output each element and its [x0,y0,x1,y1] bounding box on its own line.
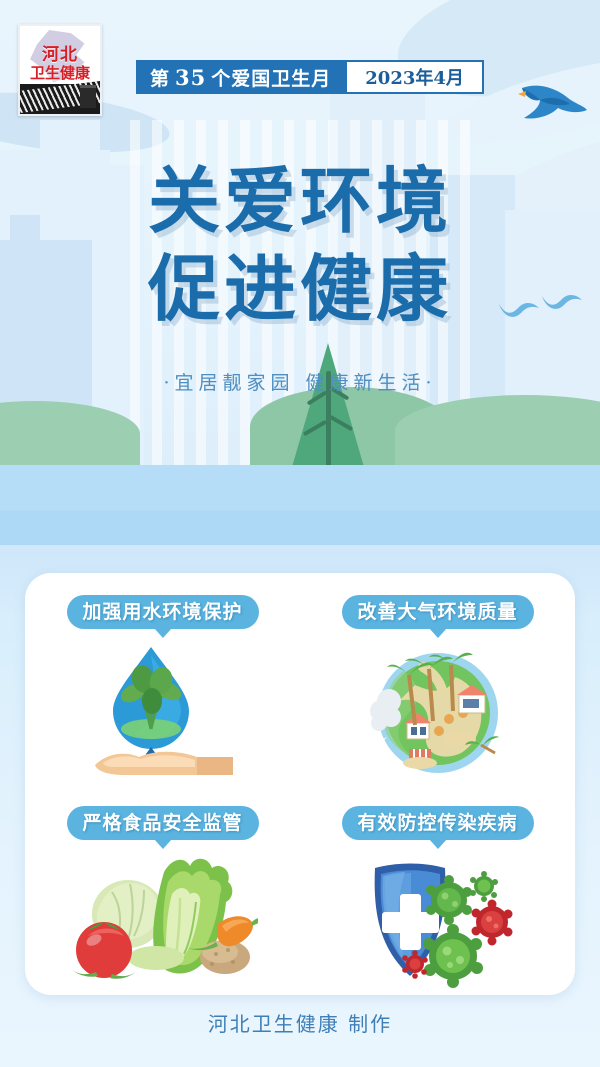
topic-item-air[interactable]: 改善大气环境质量 [300,573,575,784]
logo-line2: 卫生健康 [20,62,100,83]
topic-label: 有效防控传染疾病 [341,806,533,840]
flying-bird-icon [516,80,588,132]
water-band-deep [0,511,600,545]
topic-label: 改善大气环境质量 [341,595,533,629]
campaign-banner: 第 35 个爱国卫生月 2023年4月 [136,60,484,94]
subtitle: ·宜居靓家园 健康新生活· [0,368,600,395]
vegetables-icon [25,852,300,992]
topic-item-water[interactable]: 加强用水环境保护 [25,573,300,784]
banner-number: 35 [170,65,211,90]
banner-suffix: 个爱国卫生月 [211,64,331,91]
banner-title-segment: 第 35 个爱国卫生月 [136,60,345,94]
topic-label: 严格食品安全监管 [66,806,258,840]
topic-item-food[interactable]: 严格食品安全监管 [25,784,300,995]
footer-credit: 河北卫生健康 制作 [0,1008,600,1037]
watchtower-shape [80,85,96,108]
green-globe-icon [300,641,575,781]
headline-line2: 促进健康 [0,230,600,335]
hebei-health-logo[interactable]: 河北 卫生健康 [18,24,102,116]
topic-item-disease[interactable]: 有效防控传染疾病 [300,784,575,995]
poster-root: 河北 卫生健康 第 35 个爱国卫生月 2023年4月 关爱环境 促进健康 ·宜… [0,0,600,1067]
topics-card: 加强用水环境保护 [25,573,575,995]
shield-virus-icon [300,852,575,992]
banner-prefix: 第 [150,64,170,91]
topic-label: 加强用水环境保护 [66,595,258,629]
banner-date: 2023年4月 [345,60,484,94]
water-drop-plant-hand-icon [25,641,300,781]
topics-grid: 加强用水环境保护 [25,573,575,995]
